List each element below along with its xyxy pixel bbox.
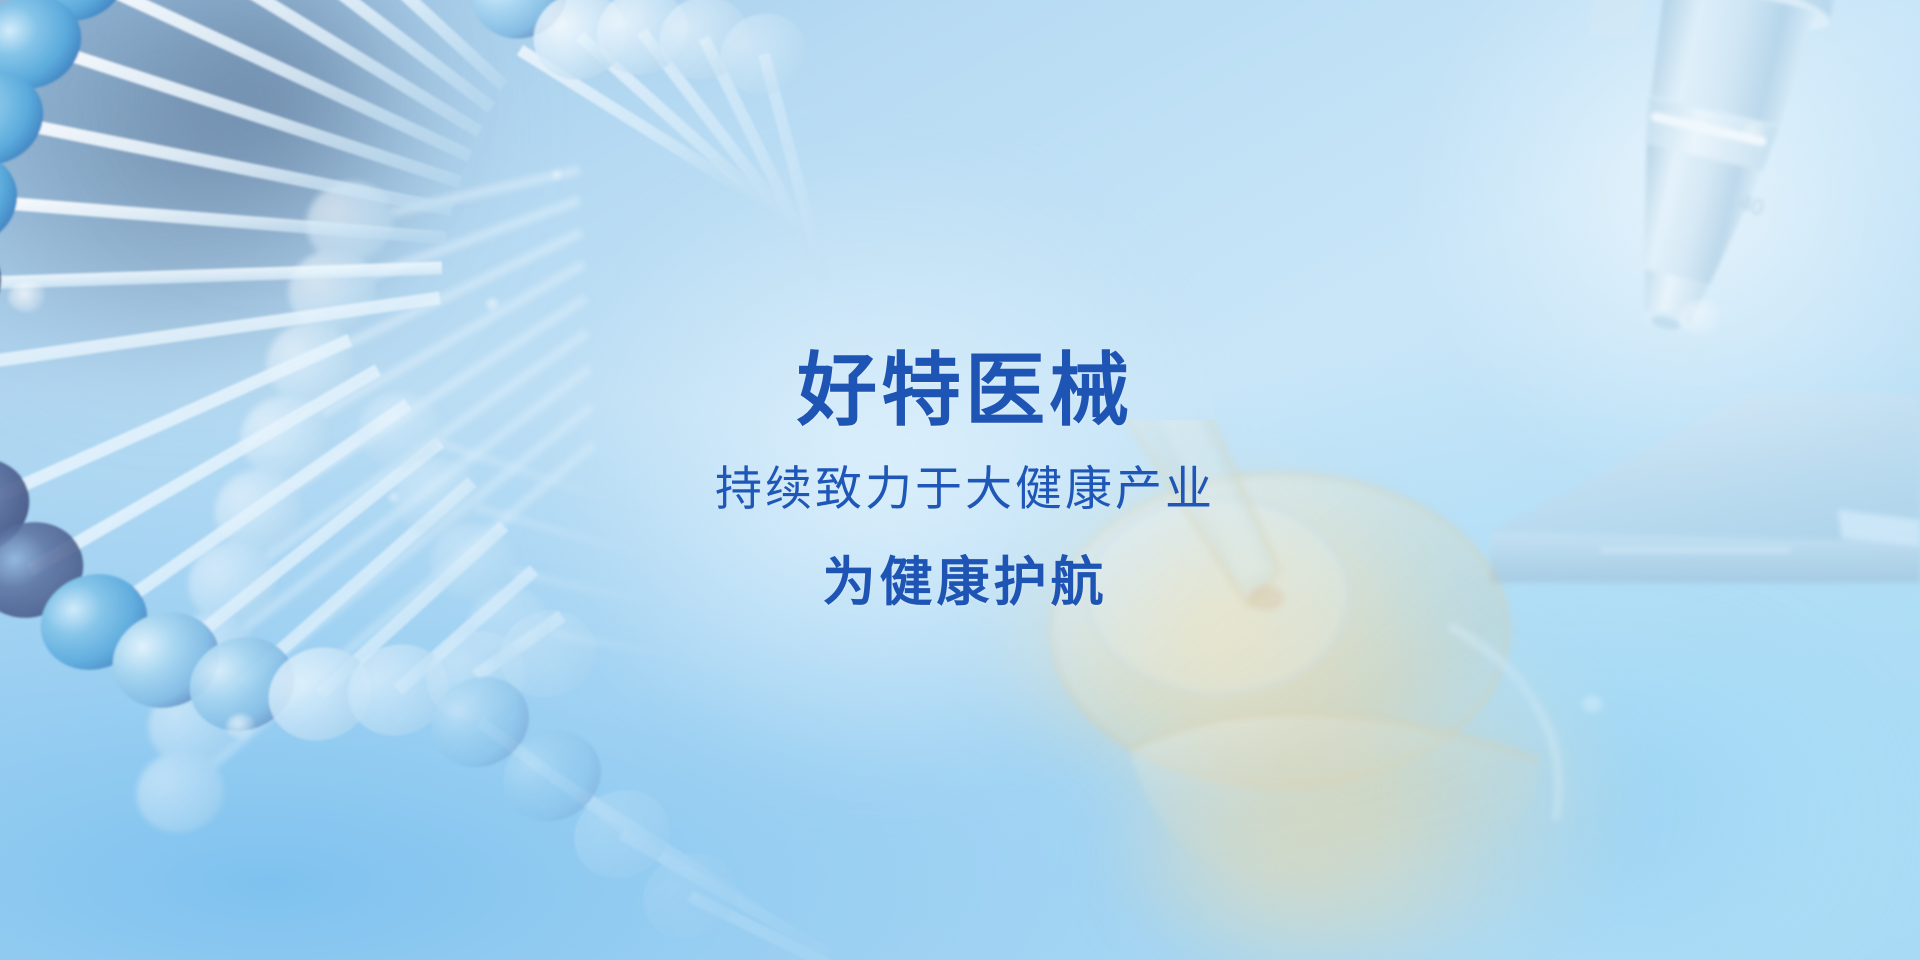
bokeh-dot [226, 714, 256, 740]
bokeh-dot [1678, 300, 1724, 334]
bokeh-dot [388, 492, 400, 504]
bokeh-dot [486, 298, 500, 312]
bokeh-dot [552, 170, 563, 181]
bokeh-dot [1742, 122, 1768, 144]
bokeh-dot [8, 282, 48, 312]
microscope-icon: 40 [1400, 0, 1920, 430]
hero-banner: 40 [0, 0, 1920, 960]
dna-helix-graphic [0, 0, 1120, 960]
